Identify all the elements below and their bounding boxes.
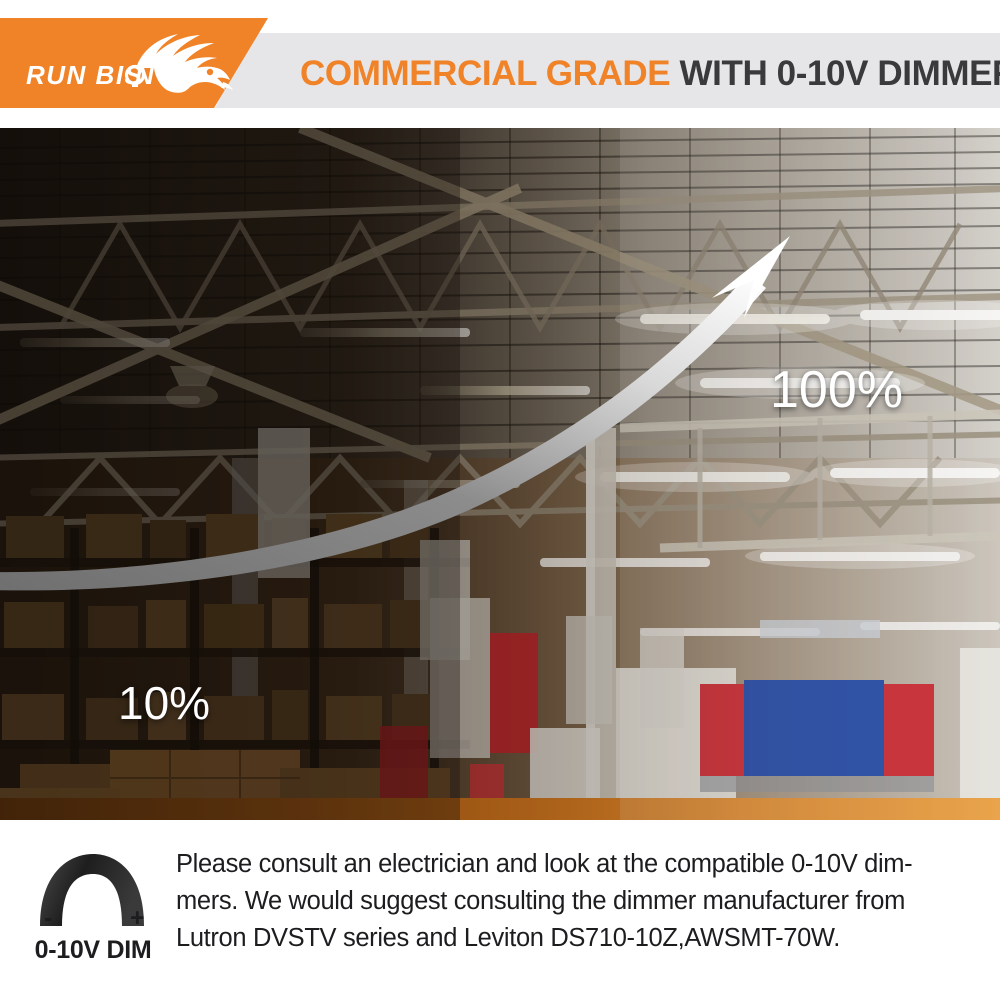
advisory-line-1: Please consult an electrician and look a… — [176, 846, 986, 883]
brightness-label-100: 100% — [770, 360, 903, 420]
banner-footer: - + 0-10V DIM Please consult an electric… — [0, 820, 1000, 1000]
advisory-paragraph: Please consult an electrician and look a… — [176, 846, 986, 957]
page-title: COMMERCIAL GRADE WITH 0-10V DIMMER — [300, 50, 990, 98]
title-highlight: COMMERCIAL GRADE — [300, 54, 670, 93]
advisory-line-3: Lutron DVSTV series and Leviton DS710-10… — [176, 920, 986, 957]
advisory-line-2: mers. We would suggest consulting the di… — [176, 883, 986, 920]
svg-text:N: N — [135, 60, 155, 90]
dimmer-knob-icon: - + 0-10V DIM — [18, 848, 168, 963]
dimmer-arc-icon — [18, 848, 168, 938]
brightness-label-10: 10% — [118, 676, 210, 730]
brand-logo: RUN BIS N — [18, 28, 248, 100]
banner-header: RUN BIS N COMMERCIAL GRADE WITH 0-10V DI… — [0, 0, 1000, 128]
minus-sign: - — [44, 904, 52, 933]
warehouse-photo: 100% 10% — [0, 128, 1000, 820]
product-feature-banner: RUN BIS N COMMERCIAL GRADE WITH 0-10V DI… — [0, 0, 1000, 1000]
plus-sign: + — [130, 904, 145, 933]
brand-wordmark: RUN BIS N — [18, 28, 248, 100]
dimmer-icon-label: 0-10V DIM — [18, 936, 168, 965]
title-rest: WITH 0-10V DIMMER — [680, 54, 1000, 93]
